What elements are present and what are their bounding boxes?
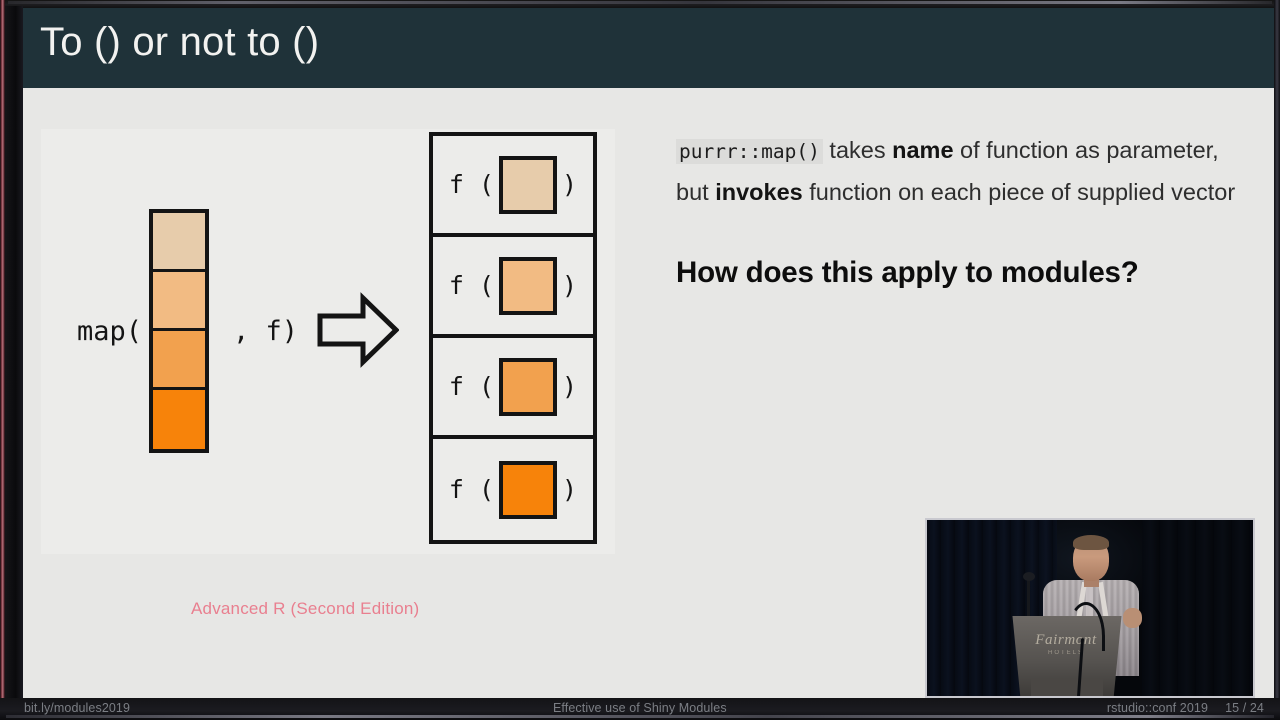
result-box-2: [499, 257, 557, 315]
f-close-paren-label: ): [562, 172, 577, 197]
speaker-video-inset[interactable]: Fairmont HOTELS: [925, 518, 1255, 698]
f-close-paren-label: ): [562, 273, 577, 298]
result-row: f ( ): [433, 338, 593, 439]
status-deck-title: Effective use of Shiny Modules: [553, 701, 727, 715]
page-title: To () or not to (): [40, 20, 319, 65]
f-close-paren-label: ): [562, 477, 577, 502]
f-open-paren-label: f (: [449, 172, 494, 197]
microphone-stand: [1027, 577, 1030, 621]
status-link-url[interactable]: bit.ly/modules2019: [24, 701, 130, 715]
input-vector-stack: [149, 209, 209, 453]
status-page-number: 15 / 24: [1225, 701, 1264, 715]
bold-invokes: invokes: [715, 179, 803, 205]
map-call-label-open: map(: [77, 316, 142, 347]
right-block-arrow-icon: [317, 292, 399, 368]
map-call-label-close: , f): [233, 316, 298, 347]
vector-cell-4: [153, 390, 205, 449]
slide-status-bar: bit.ly/modules2019 Effective use of Shin…: [0, 698, 1280, 720]
result-row: f ( ): [433, 136, 593, 237]
status-event-name: rstudio::conf 2019: [1107, 701, 1208, 715]
output-list-column: f ( ) f ( ) f ( ) f (: [429, 132, 597, 544]
slide-header: To () or not to (): [23, 8, 1274, 88]
speaker-hand: [1123, 608, 1142, 628]
vector-cell-3: [153, 331, 205, 390]
paragraph-part-1: takes: [823, 137, 892, 163]
result-box-3: [499, 358, 557, 416]
stage-curtain-right: [1142, 520, 1253, 696]
figure-credit: Advanced R (Second Edition): [191, 599, 419, 619]
result-box-1: [499, 156, 557, 214]
code-span-purrr-map: purrr::map(): [676, 139, 823, 164]
f-open-paren-label: f (: [449, 477, 494, 502]
status-bar-sheen: [6, 715, 1274, 718]
bold-name: name: [892, 137, 953, 163]
video-player-screen: To () or not to () map( , f): [0, 0, 1280, 720]
video-frame-left-bezel: [5, 6, 23, 720]
paragraph-part-3: function on each piece of supplied vecto…: [803, 179, 1235, 205]
f-open-paren-label: f (: [449, 374, 494, 399]
vector-cell-2: [153, 272, 205, 331]
podium-base: [1031, 678, 1103, 698]
bezel-highlight: [8, 1, 1272, 4]
video-frame-right-bezel: [1274, 0, 1280, 720]
result-row: f ( ): [433, 439, 593, 540]
vector-cell-1: [153, 213, 205, 272]
question-heading: How does this apply to modules?: [676, 256, 1248, 290]
microphone-head-icon: [1023, 572, 1035, 581]
map-diagram-figure: map( , f) f ( ): [41, 129, 615, 554]
result-box-4: [499, 461, 557, 519]
result-row: f ( ): [433, 237, 593, 338]
speaker-hair: [1073, 535, 1109, 550]
f-open-paren-label: f (: [449, 273, 494, 298]
f-close-paren-label: ): [562, 374, 577, 399]
explanation-paragraph: purrr::map() takes name of function as p…: [676, 130, 1248, 213]
slide-text-column: purrr::map() takes name of function as p…: [676, 130, 1248, 290]
